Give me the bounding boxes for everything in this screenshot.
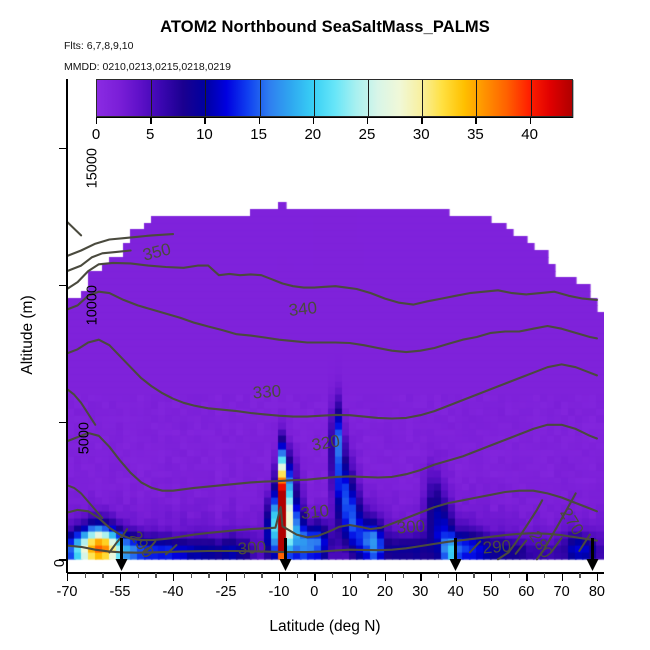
contour-label: 290 — [126, 527, 158, 561]
x-axis-tick-label: -70 — [57, 584, 78, 600]
x-axis-tick — [526, 573, 527, 581]
flight-marker-arrow — [586, 538, 599, 572]
x-axis-tick-label: 40 — [448, 584, 464, 600]
x-axis-minor-tick — [438, 573, 439, 578]
x-axis-minor-tick — [102, 573, 103, 578]
x-axis-tick — [562, 573, 563, 581]
colorbar-tick-label: 15 — [250, 126, 267, 143]
contour-line — [67, 263, 597, 305]
contour-label: 300 — [237, 538, 267, 559]
x-axis-tick — [491, 573, 492, 581]
contour-label: 350 — [141, 239, 173, 264]
contour-label: 310 — [300, 501, 330, 523]
x-axis-minor-tick — [509, 573, 510, 578]
x-axis-minor-tick — [208, 573, 209, 578]
contour-label: 300 — [396, 517, 426, 538]
contour-overlay: 350340330320310300290300290280270 — [67, 79, 604, 573]
x-axis-minor-tick — [191, 573, 192, 578]
x-axis-tick-label: 30 — [412, 584, 428, 600]
x-axis-minor-tick — [544, 573, 545, 578]
colorbar-tick-label: 20 — [304, 126, 321, 143]
contour-line — [67, 222, 81, 236]
x-axis-minor-tick — [138, 573, 139, 578]
colorbar-tick-label: 25 — [359, 126, 376, 143]
x-axis-minor-tick — [261, 573, 262, 578]
y-axis-tick — [59, 422, 67, 423]
colorbar-tick-label: 5 — [146, 126, 154, 143]
contour-line — [67, 251, 131, 272]
x-axis-tick — [173, 573, 174, 581]
x-axis-minor-tick — [473, 573, 474, 578]
x-axis-tick-label: -25 — [215, 584, 236, 600]
contour-line — [67, 340, 597, 419]
colorbar-tick-label: 30 — [413, 126, 430, 143]
x-axis-tick-label: -40 — [163, 584, 184, 600]
contour-label: 290 — [482, 537, 512, 558]
x-axis-tick-label: 70 — [554, 584, 570, 600]
contour-line — [470, 541, 481, 552]
x-axis-tick — [279, 573, 280, 581]
x-axis-tick — [67, 573, 68, 581]
flight-marker-arrow — [279, 538, 292, 572]
x-axis-tick — [226, 573, 227, 581]
x-axis-minor-tick — [244, 573, 245, 578]
x-axis-tick — [350, 573, 351, 581]
x-axis-tick-label: 60 — [518, 584, 534, 600]
contour-line — [67, 292, 597, 352]
x-axis-tick — [597, 573, 598, 581]
contour-label: 340 — [288, 298, 318, 320]
contour-line — [516, 541, 527, 554]
y-axis-tick — [59, 148, 67, 149]
x-axis-tick — [456, 573, 457, 581]
y-axis-tick-label: 10000 — [84, 285, 100, 325]
x-axis-title: Latitude (deg N) — [0, 618, 650, 636]
page-title: ATOM2 Northbound SeaSaltMass_PALMS — [0, 18, 650, 37]
colorbar-tick-label: 0 — [92, 126, 100, 143]
x-axis-minor-tick — [85, 573, 86, 578]
contour-label: 320 — [310, 431, 341, 455]
x-axis-tick-label: 10 — [342, 584, 358, 600]
x-axis-minor-tick — [297, 573, 298, 578]
contour-label: 270 — [556, 504, 587, 538]
x-axis-tick-label: 20 — [377, 584, 393, 600]
flight-marker-arrow — [115, 538, 128, 572]
x-axis-tick-label: 80 — [589, 584, 605, 600]
figure-root: ATOM2 Northbound SeaSaltMass_PALMS Flts:… — [0, 0, 650, 650]
x-axis-minor-tick — [403, 573, 404, 578]
x-axis-tick — [420, 573, 421, 581]
contour-label: 330 — [252, 382, 282, 403]
y-axis-title: Altitude (m) — [19, 225, 37, 445]
x-axis-tick-label: 50 — [483, 584, 499, 600]
plot-area: 350340330320310300290300290280270 — [67, 79, 604, 573]
contour-line — [67, 485, 102, 518]
x-axis-tick-label: -55 — [110, 584, 131, 600]
x-axis-tick — [314, 573, 315, 581]
y-axis-line — [66, 79, 68, 573]
x-axis-tick — [120, 573, 121, 581]
x-axis-tick-label: -10 — [268, 584, 289, 600]
flight-marker-arrow — [449, 538, 462, 572]
y-axis-tick-label: 5000 — [76, 422, 92, 454]
x-axis-tick — [385, 573, 386, 581]
x-axis-minor-tick — [579, 573, 580, 578]
y-axis-tick — [59, 285, 67, 286]
x-axis-tick-label: 0 — [310, 584, 318, 600]
contour-line — [67, 491, 597, 540]
x-axis-minor-tick — [332, 573, 333, 578]
x-axis-minor-tick — [155, 573, 156, 578]
dates-label: MMDD: 0210,0213,0215,0218,0219 — [64, 61, 231, 73]
x-axis-line — [67, 572, 604, 574]
y-axis-tick-label: 15000 — [84, 148, 100, 188]
x-axis-minor-tick — [367, 573, 368, 578]
colorbar-tick-label: 10 — [196, 126, 213, 143]
y-axis-tick-label: 0 — [52, 559, 68, 567]
contour-line — [67, 389, 95, 425]
flights-label: Flts: 6,7,8,9,10 — [64, 40, 133, 52]
colorbar-tick-label: 40 — [521, 126, 538, 143]
colorbar-tick-label: 35 — [467, 126, 484, 143]
